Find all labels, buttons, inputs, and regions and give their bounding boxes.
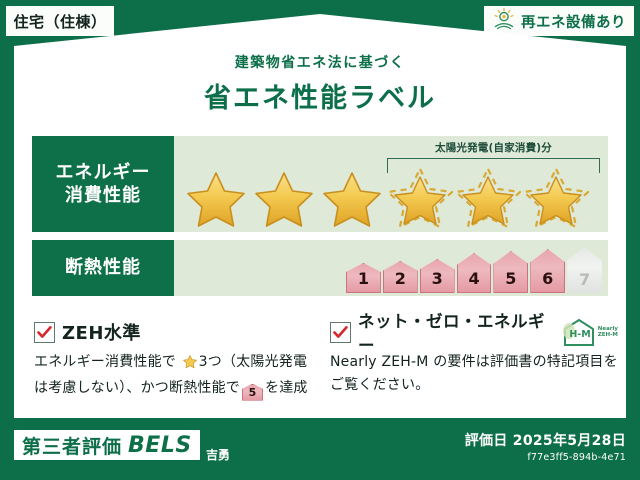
zeh-text-before-star: エネルギー消費性能で (34, 354, 176, 370)
bels-badge: 第三者評価 BELS (14, 430, 200, 460)
zeh-criterion: ZEH水準 エネルギー消費性能で 3つ（太陽光発電は考慮しない）、かつ断熱性能で… (34, 320, 316, 401)
grade-value-5: 5 (493, 251, 528, 293)
grade-value-2: 2 (383, 261, 418, 293)
evaluation-date: 評価日 2025年5月28日 (465, 430, 626, 450)
insulation-key-label: 断熱性能 (65, 256, 141, 279)
energy-performance-label: 住宅（住棟） 再エネ設備あり 建築物省エネ法に基づく 省エネ性能ラベル (0, 0, 640, 480)
insulation-performance-body: 1 2 3 4 5 6 7 (174, 240, 608, 296)
nzeb-criterion-head: ネット・ゼロ・エネルギー H-M Nearly ZEH-M (330, 320, 618, 344)
label-subtitle: 建築物省エネ法に基づく (0, 52, 640, 72)
zeh-title: ZEH水準 (62, 319, 141, 345)
evaluation-info: 評価日 2025年5月28日 f77e3ff5-894b-4e71 (465, 430, 626, 463)
owner-name: 吉勇 (206, 446, 230, 463)
nzeb-description: Nearly ZEH-M の要件は評価書の特記項目をご覧ください。 (330, 351, 618, 396)
star-icon-1 (182, 165, 250, 229)
zeh-description: エネルギー消費性能で 3つ（太陽光発電は考慮しない）、かつ断熱性能で5を達成 (34, 351, 316, 401)
grade-value-1: 1 (346, 263, 381, 293)
inline-grade-house-icon: 5 (242, 384, 263, 401)
star-icon-2 (250, 165, 318, 229)
nzeb-title: ネット・ゼロ・エネルギー (358, 308, 551, 356)
energy-performance-body: 太陽光発電(自家消費)分 (174, 136, 608, 232)
nzeb-checkbox[interactable] (330, 322, 351, 343)
insulation-grade-6: 6 (530, 249, 565, 293)
grade-value-4: 4 (457, 253, 492, 293)
energy-key-line1: エネルギー (56, 161, 151, 184)
bels-en-text: BELS (128, 433, 192, 458)
insulation-performance-key: 断熱性能 (32, 240, 174, 296)
zeh-m-logo-subtext: Nearly ZEH-M (598, 326, 618, 339)
zeh-m-logo-icon: H-M Nearly ZEH-M (562, 318, 618, 346)
page-title: 省エネ性能ラベル (0, 76, 640, 115)
svg-text:H-M: H-M (569, 329, 590, 340)
label-footer: 第三者評価 BELS 吉勇 評価日 2025年5月28日 f77e3ff5-89… (0, 424, 640, 480)
energy-performance-key: エネルギー 消費性能 (32, 136, 174, 232)
star-icon-3 (318, 165, 386, 229)
grade-value-6: 6 (530, 249, 565, 293)
zeh-m-sub-line2: ZEH-M (598, 332, 618, 338)
building-type-text: 住宅（住棟） (13, 11, 106, 32)
inline-star-icon (182, 353, 198, 377)
insulation-grade-2: 2 (383, 261, 418, 293)
grade-value-7: 7 (567, 247, 602, 293)
zeh-text-end: を達成 (265, 380, 308, 396)
zeh-checkbox[interactable] (34, 322, 55, 343)
renewable-tag-text: 再エネ設備あり (521, 11, 626, 32)
energy-performance-row: エネルギー 消費性能 太陽光発電(自家消費)分 (32, 136, 608, 232)
star-icon-solar-5 (454, 165, 522, 229)
evaluation-id: f77e3ff5-894b-4e71 (465, 452, 626, 463)
star-icon-solar-6 (522, 165, 590, 229)
insulation-grade-1: 1 (346, 263, 381, 293)
insulation-performance-row: 断熱性能 1 2 3 4 5 6 (32, 240, 608, 296)
star-rating (182, 164, 604, 230)
insulation-grade-3: 3 (420, 259, 455, 293)
insulation-grade-scale: 1 2 3 4 5 6 7 (346, 243, 602, 293)
insulation-grade-5: 5 (493, 251, 528, 293)
energy-key-line2: 消費性能 (65, 184, 141, 207)
insulation-grade-7: 7 (567, 247, 602, 293)
building-type-tag: 住宅（住棟） (6, 6, 114, 36)
zeh-criterion-head: ZEH水準 (34, 320, 316, 344)
solar-caption: 太陽光発電(自家消費)分 (379, 140, 608, 155)
nzeb-criterion: ネット・ゼロ・エネルギー H-M Nearly ZEH-M Nearly ZEH… (330, 320, 618, 396)
renewable-equipment-tag: 再エネ設備あり (484, 6, 634, 36)
bels-jp-text: 第三者評価 (22, 432, 122, 459)
zeh-m-sub-line1: Nearly (598, 326, 618, 332)
star-icon-solar-4 (386, 165, 454, 229)
insulation-grade-4: 4 (457, 253, 492, 293)
solar-sun-icon (492, 7, 516, 35)
grade-value-3: 3 (420, 259, 455, 293)
